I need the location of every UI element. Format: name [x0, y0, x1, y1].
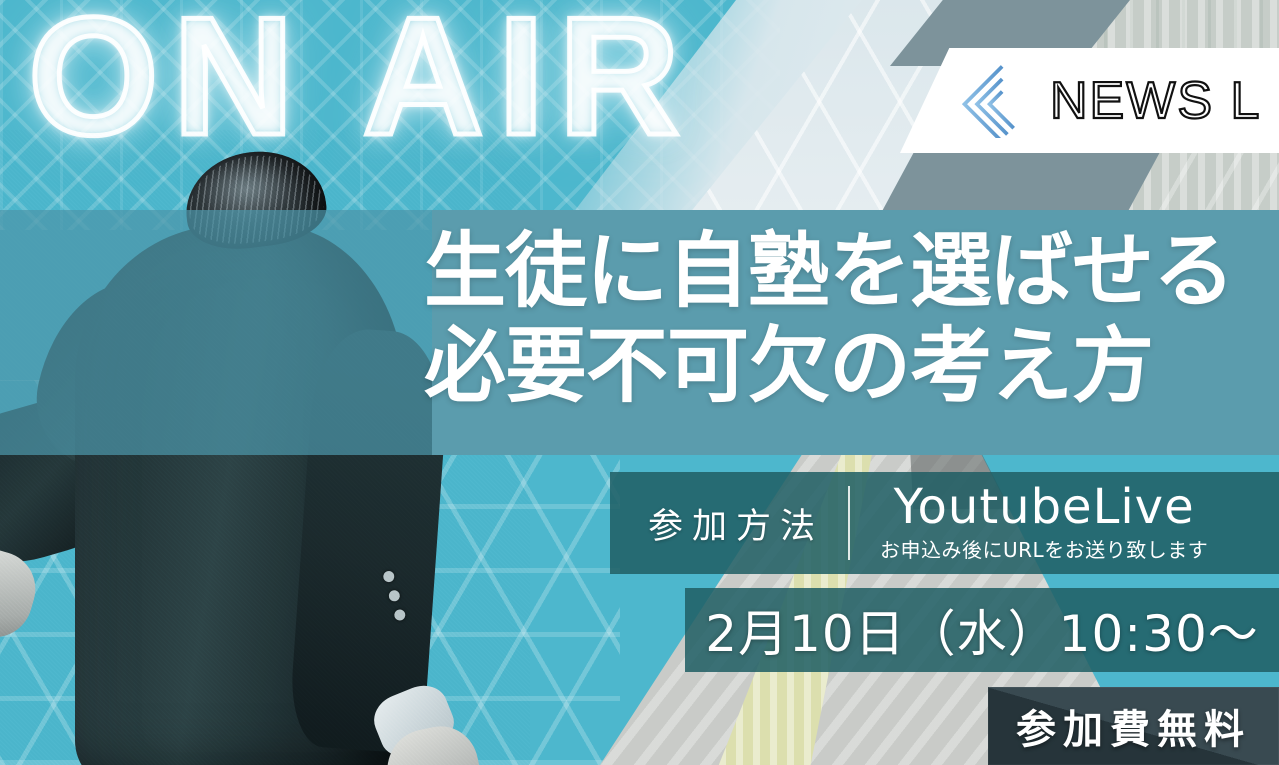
participation-method-label: 参加方法 [648, 498, 824, 549]
free-admission-badge: 参加費無料 [988, 687, 1279, 765]
webinar-poster: ON AIR ON AIR 生徒に自塾を選ばせる 必要不可欠の考え方 参加方法 … [0, 0, 1279, 765]
vertical-divider [848, 486, 850, 560]
headline-line-1: 生徒に自塾を選ばせる [424, 224, 1244, 319]
event-date-bar: 2月10日（水）10:30〜 [685, 588, 1279, 672]
brand-logo-band: NEWS L [900, 48, 1279, 153]
platform-name: YoutubeLive [894, 483, 1195, 533]
brand-name: NEWS L [1050, 71, 1261, 131]
event-date-text: 2月10日（水）10:30〜 [705, 594, 1259, 666]
nested-chevron-diamond-icon [962, 64, 1036, 138]
headline-line-2: 必要不可欠の考え方 [424, 319, 1244, 414]
headline-block: 生徒に自塾を選ばせる 必要不可欠の考え方 [424, 224, 1244, 414]
platform-block: YoutubeLive お申込み後にURLをお送り致します [880, 483, 1208, 564]
platform-note: お申込み後にURLをお送り致します [880, 534, 1208, 563]
free-admission-label: 参加費無料 [1016, 697, 1251, 755]
participation-method-bar: 参加方法 YoutubeLive お申込み後にURLをお送り致します [610, 472, 1279, 574]
